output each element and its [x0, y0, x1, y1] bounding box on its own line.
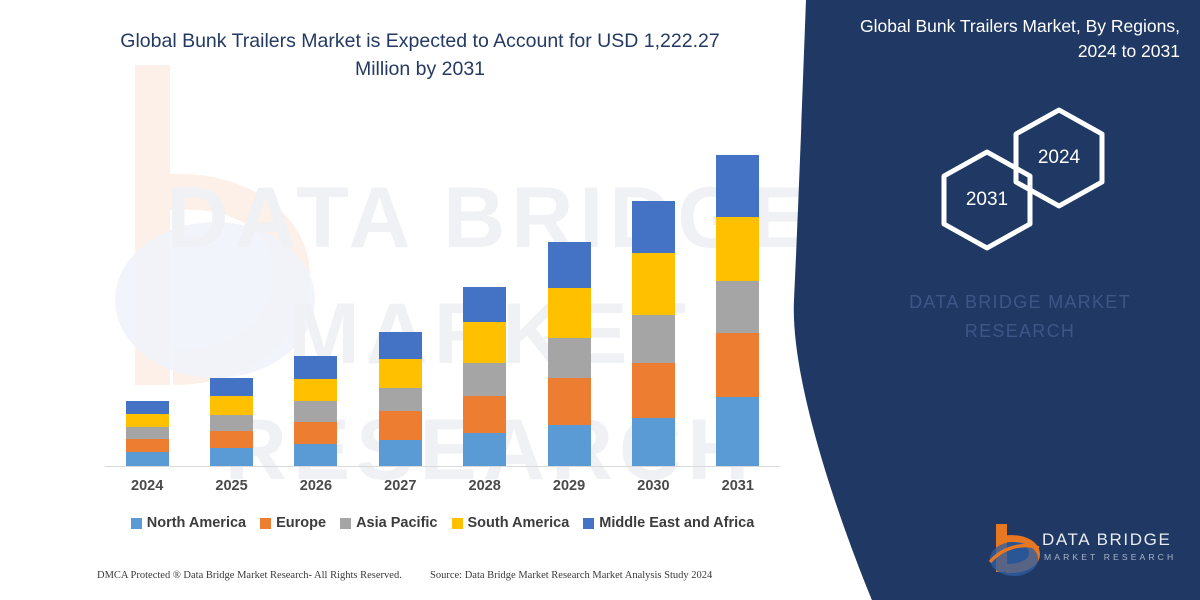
- bar-segment-europe: [548, 378, 591, 425]
- bar-2027: [379, 332, 422, 466]
- bar-segment-middle-east-and-africa: [294, 356, 337, 379]
- bar-segment-asia-pacific: [548, 338, 591, 378]
- bar-2031: [716, 155, 759, 466]
- bar-segment-north-america: [379, 440, 422, 466]
- panel-watermark-text: DATA BRIDGE MARKET RESEARCH: [860, 288, 1180, 346]
- bar-segment-asia-pacific: [379, 388, 422, 411]
- bar-segment-europe: [632, 363, 675, 418]
- bar-segment-asia-pacific: [632, 315, 675, 363]
- bar-segment-europe: [379, 411, 422, 440]
- x-axis-label-2027: 2027: [358, 478, 442, 494]
- bar-segment-middle-east-and-africa: [379, 332, 422, 359]
- bar-segment-north-america: [716, 397, 759, 466]
- bar-segment-north-america: [548, 425, 591, 466]
- bar-segment-europe: [126, 439, 169, 452]
- bar-segment-south-america: [294, 379, 337, 401]
- bar-segment-south-america: [379, 359, 422, 388]
- panel-title: Global Bunk Trailers Market, By Regions,…: [850, 14, 1180, 65]
- bar-segment-asia-pacific: [716, 281, 759, 333]
- x-axis-label-2026: 2026: [274, 478, 358, 494]
- hex-badge-2031: 2031: [940, 148, 1034, 252]
- bar-segment-middle-east-and-africa: [210, 378, 253, 396]
- stacked-bar-chart: [105, 140, 780, 466]
- legend-label: Asia Pacific: [356, 515, 437, 531]
- bar-segment-asia-pacific: [294, 401, 337, 422]
- legend-swatch-icon: [452, 518, 463, 529]
- bar-segment-middle-east-and-africa: [463, 287, 506, 322]
- bar-segment-europe: [716, 333, 759, 397]
- bar-segment-middle-east-and-africa: [632, 201, 675, 253]
- bar-segment-asia-pacific: [463, 363, 506, 396]
- bar-2026: [294, 356, 337, 466]
- hex-badge-2031-label: 2031: [940, 189, 1034, 211]
- legend-label: North America: [147, 515, 246, 531]
- bar-segment-europe: [210, 431, 253, 448]
- legend-swatch-icon: [260, 518, 271, 529]
- brand-tagline: MARKET RESEARCH: [1044, 552, 1176, 562]
- bar-segment-europe: [294, 422, 337, 444]
- x-axis-label-2029: 2029: [527, 478, 611, 494]
- legend-swatch-icon: [340, 518, 351, 529]
- bar-segment-north-america: [210, 448, 253, 466]
- bar-2024: [126, 401, 169, 466]
- bar-segment-north-america: [463, 433, 506, 466]
- bar-segment-asia-pacific: [210, 415, 253, 431]
- x-axis-label-2025: 2025: [190, 478, 274, 494]
- x-axis-label-2028: 2028: [443, 478, 527, 494]
- navy-panel-content: Global Bunk Trailers Market, By Regions,…: [830, 0, 1200, 600]
- bar-2028: [463, 287, 506, 466]
- bar-segment-south-america: [716, 217, 759, 281]
- x-axis-label-2030: 2030: [611, 478, 695, 494]
- legend-label: Middle East and Africa: [599, 515, 754, 531]
- footer-source: Source: Data Bridge Market Research Mark…: [430, 570, 712, 581]
- bar-segment-middle-east-and-africa: [126, 401, 169, 414]
- footer-copyright: DMCA Protected ® Data Bridge Market Rese…: [97, 570, 402, 581]
- x-axis-line: [105, 466, 780, 467]
- bar-segment-asia-pacific: [126, 427, 169, 439]
- chart-region: DATA BRIDGE MARKET RESEARCH Global Bunk …: [0, 0, 830, 600]
- legend-swatch-icon: [583, 518, 594, 529]
- legend-item-middle-east-and-africa[interactable]: Middle East and Africa: [583, 515, 754, 531]
- legend-label: Europe: [276, 515, 326, 531]
- bar-segment-south-america: [632, 253, 675, 315]
- bar-2030: [632, 201, 675, 466]
- legend-item-south-america[interactable]: South America: [452, 515, 570, 531]
- x-axis-label-2024: 2024: [105, 478, 189, 494]
- bar-segment-middle-east-and-africa: [548, 242, 591, 288]
- chart-legend: North AmericaEuropeAsia PacificSouth Ame…: [105, 512, 780, 534]
- bar-segment-europe: [463, 396, 506, 433]
- bar-segment-south-america: [463, 322, 506, 363]
- legend-item-asia-pacific[interactable]: Asia Pacific: [340, 515, 437, 531]
- page-title: Global Bunk Trailers Market is Expected …: [90, 28, 750, 83]
- bar-segment-north-america: [126, 452, 169, 466]
- bar-segment-north-america: [294, 444, 337, 466]
- bar-segment-south-america: [210, 396, 253, 415]
- brand-name: DATA BRIDGE: [1042, 530, 1171, 550]
- bar-2025: [210, 378, 253, 466]
- legend-item-north-america[interactable]: North America: [131, 515, 246, 531]
- bar-segment-north-america: [632, 418, 675, 466]
- bar-segment-south-america: [548, 288, 591, 338]
- x-axis-label-2031: 2031: [696, 478, 780, 494]
- x-axis-labels: 20242025202620272028202920302031: [105, 476, 780, 500]
- bar-2029: [548, 242, 591, 466]
- bar-segment-middle-east-and-africa: [716, 155, 759, 217]
- legend-item-europe[interactable]: Europe: [260, 515, 326, 531]
- legend-label: South America: [468, 515, 570, 531]
- bar-segment-south-america: [126, 414, 169, 427]
- legend-swatch-icon: [131, 518, 142, 529]
